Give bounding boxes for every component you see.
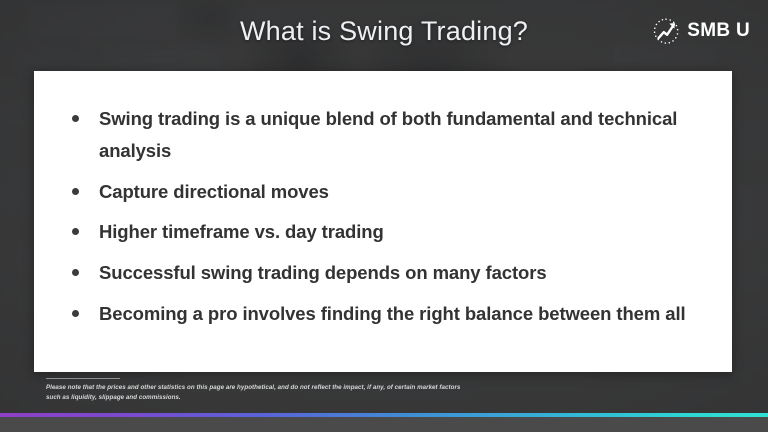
bullet-text: Becoming a pro involves finding the righ… [99,298,686,330]
list-item: Successful swing trading depends on many… [72,257,706,289]
list-item: Swing trading is a unique blend of both … [72,103,706,167]
disclaimer-divider [46,378,120,379]
footer-band [0,417,768,432]
slide: What is Swing Trading? SMB U Sw [0,0,768,432]
bullet-text: Higher timeframe vs. day trading [99,216,384,248]
logo-text: SMB U [687,20,750,42]
brand-logo: SMB U [651,16,750,46]
list-item: Becoming a pro involves finding the righ… [72,298,706,330]
content-card: Swing trading is a unique blend of both … [34,71,732,372]
bullet-dot-icon [72,269,79,276]
bullet-dot-icon [72,228,79,235]
bullet-text: Swing trading is a unique blend of both … [99,103,706,167]
disclaimer: Please note that the prices and other st… [46,378,466,403]
list-item: Capture directional moves [72,176,706,208]
chart-arrow-circle-icon [651,16,681,46]
accent-gradient-bar [0,413,768,417]
disclaimer-text: Please note that the prices and other st… [46,383,466,403]
bullet-text: Successful swing trading depends on many… [99,257,547,289]
bullet-text: Capture directional moves [99,176,329,208]
bullet-list: Swing trading is a unique blend of both … [34,71,732,330]
list-item: Higher timeframe vs. day trading [72,216,706,248]
bullet-dot-icon [72,310,79,317]
bullet-dot-icon [72,115,79,122]
bullet-dot-icon [72,188,79,195]
